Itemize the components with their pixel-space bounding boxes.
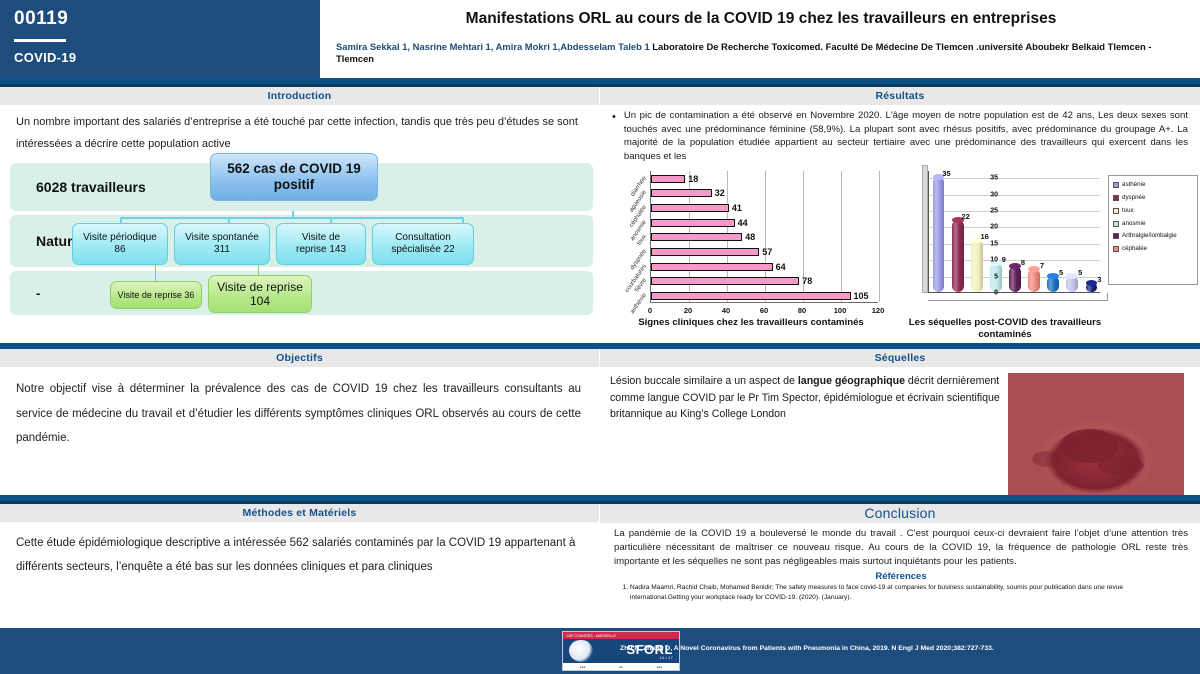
chart-2-caption: Les séquelles post-COVID des travailleur… [900, 317, 1110, 341]
hbc-value-label: 32 [715, 188, 725, 198]
logo-banner: 128ᵉ CONGRÈS - MARSEILLE [563, 632, 679, 639]
hbc-x-tick-label: 80 [798, 306, 806, 315]
hbc-value-label: 44 [738, 218, 748, 228]
node-l2-0-value: 86 [114, 244, 125, 255]
hbc-bar [651, 292, 851, 300]
hbc-value-label: 105 [854, 291, 869, 301]
tongue-patch-2 [1098, 455, 1144, 475]
vbc-value-label: 22 [961, 212, 969, 221]
resultats-bullet-row: • Un pic de contamination a été observé … [600, 105, 1200, 163]
references-list: Nadira Maamri, Rachid Chaib, Mohamed Ben… [614, 583, 1188, 602]
flow-node-consultation-specialisee[interactable]: Consultationspécialisée 22 [372, 223, 474, 265]
hbc-bar [651, 219, 735, 227]
reference-item-2-overlay: Zhu N, Zhang D, A Novel Coronavirus from… [620, 645, 1195, 652]
column-introduction: Introduction Un nombre important des sal… [0, 87, 600, 341]
node-l3-1-value: 104 [250, 294, 270, 308]
node-l3-1-label: Visite de reprise [217, 280, 303, 294]
header-text-block: Manifestations ORL au cours de la COVID … [326, 0, 1196, 78]
node-l2-2-label: Visite de [302, 232, 340, 243]
vbc-legend-item: asthénie [1113, 181, 1193, 189]
author-names: Samira Sekkal 1, Nasrine Mehtari 1, Amir… [336, 41, 650, 52]
vbc-legend-item: toux [1113, 207, 1193, 215]
vbc-legend-swatch [1113, 182, 1119, 188]
hbc-bar [651, 204, 729, 212]
vbc-legend-swatch [1113, 221, 1119, 227]
abstract-id-block: 00119 COVID-19 [0, 0, 320, 78]
vbc-bar-cap [1066, 273, 1078, 279]
vbc-y-tick-label: 15 [978, 240, 998, 247]
vbc-bar [1028, 269, 1040, 292]
vbc-value-label: 3 [1097, 275, 1101, 284]
vbc-plot-area [928, 171, 1100, 293]
vbc-bar [1009, 266, 1021, 292]
vbc-bar [952, 220, 964, 293]
hbc-bar [651, 189, 712, 197]
tongue-photo-inner [1008, 373, 1184, 495]
hbc-bar [651, 248, 759, 256]
sequelles-body: Lésion buccale similaire a un aspect de … [600, 367, 1200, 495]
vbc-y-tick-label: 35 [978, 175, 998, 182]
vbc-bar [933, 177, 945, 292]
vbc-bar-cap [1009, 263, 1021, 269]
flow-band-1-label: 6028 travailleurs [36, 179, 146, 195]
charts-container: 020406080100120105asthénie78fièvre64cour… [600, 163, 1200, 341]
vbc-legend-label: anosmie [1122, 220, 1145, 228]
introduction-text: Un nombre important des salariés d’entre… [16, 111, 583, 155]
methodes-body: Cette étude épidémiologique descriptive … [0, 522, 599, 579]
chart-sequelles-post-covid: asthéniedyspnéetouxanosmieArthralgie/lom… [900, 165, 1200, 341]
node-l2-0-label: Visite périodique [83, 232, 157, 243]
conclusion-text: La pandémie de la COVID 19 a bouleversé … [614, 527, 1188, 569]
hbc-x-tick-label: 60 [760, 306, 768, 315]
flow-node-visite-reprise-36[interactable]: Visite de reprise 36 [110, 281, 202, 309]
vbc-legend-item: céphalée [1113, 245, 1193, 253]
vbc-legend-label: dyspnée [1122, 194, 1145, 202]
sequelles-text-part1: Lésion buccale similaire a un aspect de [610, 375, 798, 387]
vbc-gridline [929, 178, 1100, 179]
column-resultats: Résultats • Un pic de contamination a ét… [600, 87, 1200, 341]
column-methodes: Méthodes et Matériels Cette étude épidém… [0, 504, 600, 603]
page-title: Manifestations ORL au cours de la COVID … [336, 10, 1186, 29]
hbc-x-tick-label: 40 [722, 306, 730, 315]
logo-congress-text: 128ᵉ CONGRÈS - MARSEILLE [566, 634, 616, 638]
logo-partners: ●●● ●● ●●● [563, 663, 679, 671]
vbc-y-tick-label: 30 [978, 191, 998, 198]
abstract-id-number: 00119 [14, 8, 306, 30]
vbc-value-label: 8 [1021, 258, 1025, 267]
objectifs-text: Notre objectif vise à déterminer la prév… [16, 377, 581, 449]
node-l2-3-label: Consultation [395, 232, 451, 243]
logo-face-icon [569, 640, 593, 662]
vbc-bar-cap [1047, 273, 1059, 279]
vbc-legend-label: céphalée [1122, 245, 1147, 253]
hbc-value-label: 18 [688, 174, 698, 184]
logo-partner-1: ●●● [580, 665, 585, 669]
vbc-floor [928, 293, 1108, 301]
tongue-patch-3 [1032, 451, 1062, 467]
vbc-value-label: 35 [942, 169, 950, 178]
vbc-legend: asthéniedyspnéetouxanosmieArthralgie/lom… [1108, 175, 1198, 285]
node-l2-2-value: reprise 143 [296, 244, 346, 255]
node-l2-1-label: Visite spontanée [185, 232, 259, 243]
vbc-y-tick-label: 25 [978, 208, 998, 215]
hbc-x-tick-label: 20 [684, 306, 692, 315]
vbc-gridline [929, 211, 1100, 212]
node-l2-1-value: 311 [214, 244, 230, 255]
vbc-y-tick-label: 10 [978, 257, 998, 264]
vbc-bar [1086, 283, 1098, 293]
reference-item: Nadira Maamri, Rachid Chaib, Mohamed Ben… [630, 583, 1178, 602]
hbc-value-label: 57 [762, 247, 772, 257]
row-methodes-conclusion: Méthodes et Matériels Cette étude épidém… [0, 504, 1200, 603]
hbc-x-tick-label: 100 [834, 306, 847, 315]
hbc-plot-area [650, 171, 878, 303]
section-heading-introduction: Introduction [0, 87, 599, 105]
vbc-legend-swatch [1113, 233, 1119, 239]
chart-signes-cliniques: 020406080100120105asthénie78fièvre64cour… [606, 165, 896, 341]
section-heading-objectifs: Objectifs [0, 349, 599, 367]
references-heading: Références [614, 571, 1188, 582]
introduction-body: Un nombre important des salariés d’entre… [0, 105, 599, 155]
vbc-legend-swatch [1113, 195, 1119, 201]
id-divider [14, 39, 66, 42]
vbc-value-label: 5 [1059, 268, 1063, 277]
logo-partner-3: ●●● [657, 665, 662, 669]
hbc-x-tick-label: 120 [872, 306, 885, 315]
vbc-legend-label: asthénie [1122, 181, 1145, 189]
resultats-bullet-text: Un pic de contamination a été observé en… [624, 109, 1188, 163]
vbc-legend-swatch [1113, 246, 1119, 252]
section-heading-conclusion: Conclusion [600, 504, 1200, 523]
methodes-text: Cette étude épidémiologique descriptive … [16, 532, 581, 579]
vbc-value-label: 9 [1002, 255, 1006, 264]
poster-header: 00119 COVID-19 Manifestations ORL au cou… [0, 0, 1200, 78]
vbc-value-label: 16 [981, 232, 989, 241]
section-heading-methodes: Méthodes et Matériels [0, 504, 599, 522]
vbc-value-label: 5 [1078, 268, 1082, 277]
row-objectifs-sequelles: Objectifs Notre objectif vise à détermin… [0, 349, 1200, 495]
vbc-value-label: 7 [1040, 261, 1044, 270]
column-conclusion: Conclusion La pandémie de la COVID 19 a … [600, 504, 1200, 603]
vbc-bar [1066, 276, 1078, 292]
connector-horizontal [120, 217, 464, 219]
horizontal-bar-chart: 020406080100120105asthénie78fièvre64cour… [606, 165, 896, 315]
vbc-y-tick-label: 20 [978, 224, 998, 231]
column-sequelles: Séquelles Lésion buccale similaire a un … [600, 349, 1200, 495]
flow-node-visite-reprise-104[interactable]: Visite de reprise104 [208, 275, 312, 313]
node-l3-0-label: Visite de reprise 36 [118, 290, 195, 301]
sequelles-text-bold: langue géographique [798, 375, 905, 387]
column-objectifs: Objectifs Notre objectif vise à détermin… [0, 349, 600, 495]
vbc-legend-label: toux [1122, 207, 1134, 215]
vbc-bar-cap [1028, 266, 1040, 272]
chart-1-caption: Signes cliniques chez les travailleurs c… [606, 317, 896, 329]
tongue-photo [1008, 373, 1184, 495]
node-l2-3-value: spécialisée 22 [391, 244, 454, 255]
hbc-gridline [841, 171, 842, 302]
hbc-value-label: 48 [745, 232, 755, 242]
poster-root: 00119 COVID-19 Manifestations ORL au cou… [0, 0, 1200, 674]
section-heading-resultats: Résultats [600, 87, 1200, 105]
vbc-gridline [929, 195, 1100, 196]
flowchart: 6028 travailleurs Nature de la visite - [10, 163, 593, 315]
abstract-topic: COVID-19 [14, 50, 306, 65]
section-heading-sequelles: Séquelles [600, 349, 1200, 367]
hbc-value-label: 64 [776, 262, 786, 272]
logo-partner-2: ●● [619, 665, 623, 669]
vbc-bar [971, 240, 983, 293]
vbc-bar [1047, 276, 1059, 292]
hbc-value-label: 78 [802, 276, 812, 286]
flow-node-visite-reprise-143[interactable]: Visite dereprise 143 [276, 223, 366, 265]
flow-node-root[interactable]: 562 cas de COVID 19 positif [210, 153, 378, 201]
vbc-legend-item: dyspnée [1113, 194, 1193, 202]
vbc-legend-label: Arthralgie/lombalgie [1122, 232, 1177, 240]
vertical-bar-chart: asthéniedyspnéetouxanosmieArthralgie/lom… [900, 165, 1200, 315]
sequelles-text: Lésion buccale similaire a un aspect de … [610, 373, 1002, 495]
hbc-gridline [879, 171, 880, 302]
vbc-y-tick-label: 5 [978, 273, 998, 280]
objectifs-body: Notre objectif vise à déterminer la prév… [0, 367, 599, 479]
authors-line: Samira Sekkal 1, Nasrine Mehtari 1, Amir… [336, 41, 1186, 66]
flow-node-visite-spontanee[interactable]: Visite spontanée311 [174, 223, 270, 265]
row-intro-results: Introduction Un nombre important des sal… [0, 87, 1200, 341]
hbc-bar [651, 263, 773, 271]
hbc-bar [651, 175, 685, 183]
hbc-bar [651, 233, 742, 241]
vbc-bar-cap [1086, 280, 1098, 286]
conclusion-body: La pandémie de la COVID 19 a bouleversé … [600, 523, 1200, 602]
poster-footer: 128ᵉ CONGRÈS - MARSEILLE SFORL 14 • 17 ●… [0, 628, 1200, 674]
vbc-legend-item: Arthralgie/lombalgie [1113, 232, 1193, 240]
bullet-icon: • [612, 109, 616, 163]
flow-band-3-label: - [36, 286, 40, 301]
flow-node-root-label: 562 cas de COVID 19 positif [211, 161, 377, 193]
vbc-y-tick-label: 0 [978, 290, 998, 297]
hbc-bar [651, 277, 799, 285]
hbc-x-tick-label: 0 [648, 306, 652, 315]
vbc-legend-swatch [1113, 208, 1119, 214]
hbc-value-label: 41 [732, 203, 742, 213]
vbc-legend-item: anosmie [1113, 220, 1193, 228]
flow-node-visite-periodique[interactable]: Visite périodique86 [72, 223, 168, 265]
